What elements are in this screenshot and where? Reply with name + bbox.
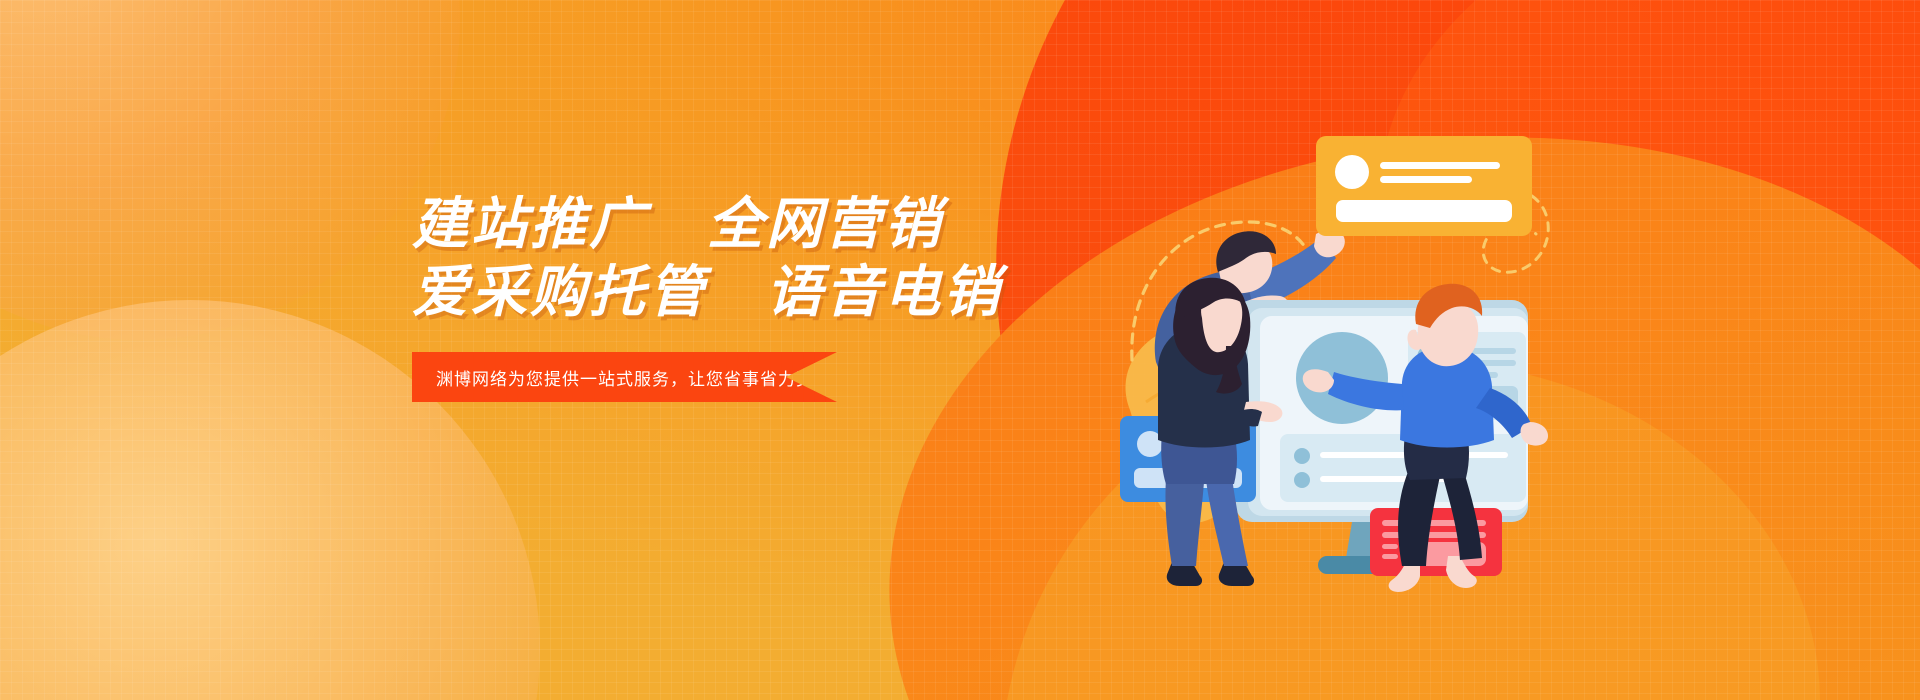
headline-line-1: 建站推广 全网营销 — [412, 190, 1172, 258]
headline-block: 建站推广 全网营销 爱采购托管 语音电销 渊博网络为您提供一站式服务，让您省事省… — [412, 190, 1172, 402]
tagline-text: 渊博网络为您提供一站式服务，让您省事省力更省心 — [412, 365, 850, 390]
yellow-profile-card — [1316, 136, 1532, 236]
headline-line-2: 爱采购托管 语音电销 — [412, 258, 1172, 326]
tagline-ribbon: 渊博网络为您提供一站式服务，让您省事省力更省心 — [412, 352, 837, 402]
red-profile-card — [1370, 508, 1502, 576]
hero-illustration — [1120, 110, 1540, 610]
promo-banner: 建站推广 全网营销 爱采购托管 语音电销 渊博网络为您提供一站式服务，让您省事省… — [0, 0, 1920, 700]
